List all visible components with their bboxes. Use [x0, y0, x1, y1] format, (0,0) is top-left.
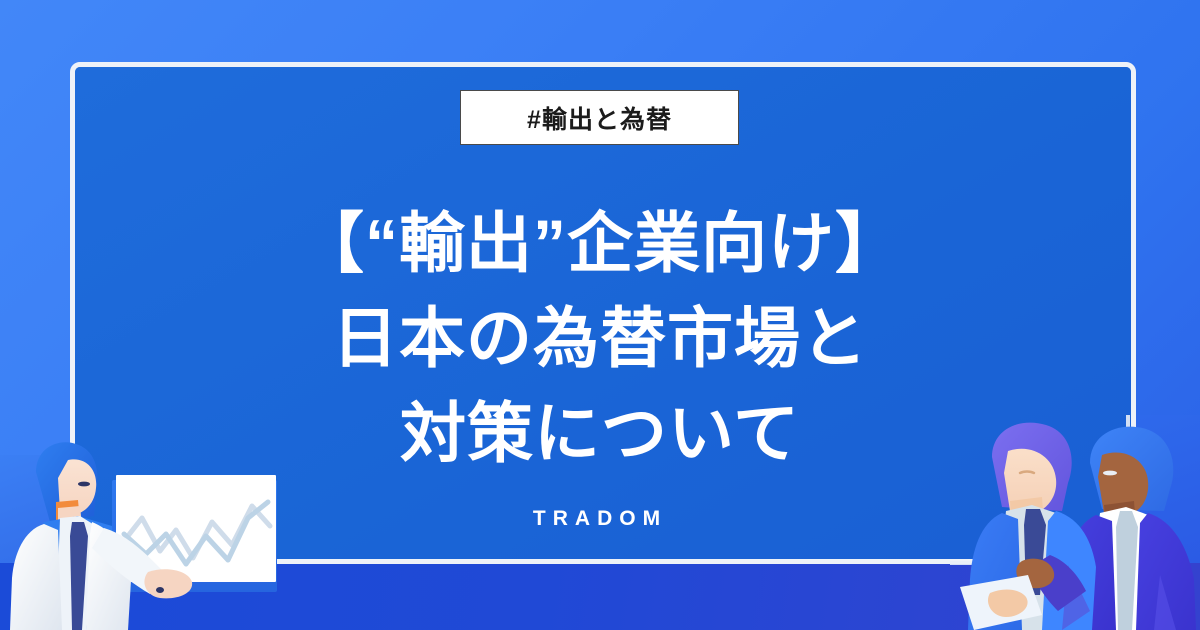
two-colleagues-illustration	[950, 415, 1200, 630]
colleague-back-eye	[1103, 471, 1117, 476]
title-line-1: 【“輸出”企業向け】	[0, 196, 1200, 291]
presenter-jacket-left	[10, 524, 62, 630]
banner-canvas: #輸出と為替 【“輸出”企業向け】 日本の為替市場と 対策について TRADOM	[0, 0, 1200, 630]
title-line-2: 日本の為替市場と	[0, 291, 1200, 386]
hashtag-label: #輸出と為替	[527, 100, 672, 136]
presenter-eye	[78, 482, 90, 487]
hashtag-badge: #輸出と為替	[460, 90, 739, 145]
presenter-illustration	[0, 430, 300, 630]
presenter-pen	[156, 587, 164, 593]
